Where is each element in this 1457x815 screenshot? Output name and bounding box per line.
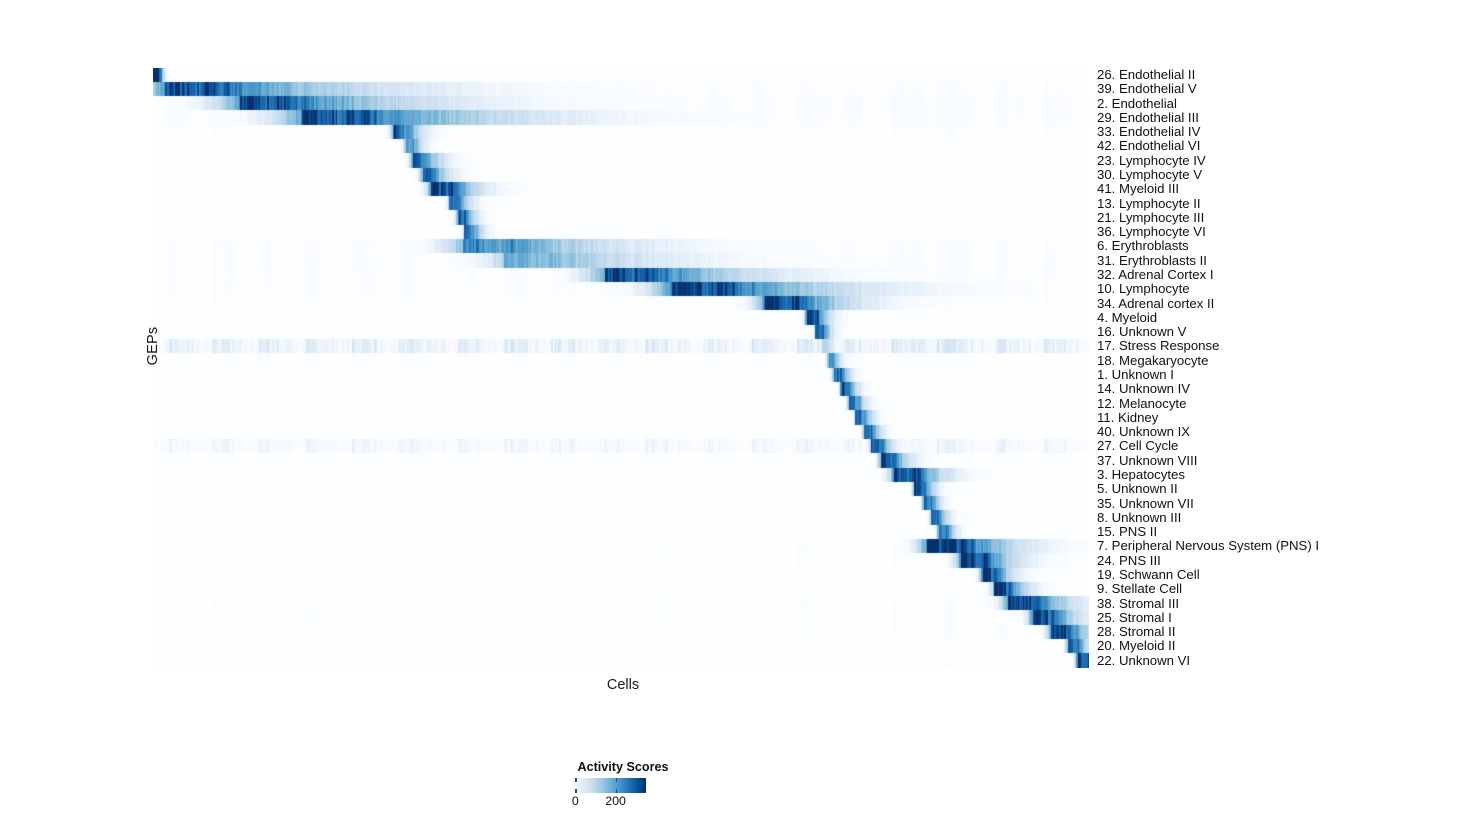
gep-row-label: 28. Stromal II [1097,626,1175,638]
gep-row-label: 41. Myeloid III [1097,183,1179,195]
gep-row-label: 11. Kidney [1097,412,1158,424]
gep-row-label: 24. PNS III [1097,555,1161,567]
colorbar-tick-mark [616,789,618,793]
gep-row-label: 38. Stromal III [1097,598,1179,610]
colorbar-gradient [570,778,646,793]
heatmap-plot-area [153,68,1089,668]
y-axis-label: GEPs [145,306,161,386]
gep-row-label: 1. Unknown I [1097,369,1174,381]
gep-row-label: 37. Unknown VIII [1097,455,1197,467]
gep-row-label: 7. Peripheral Nervous System (PNS) I [1097,540,1319,552]
colorbar-legend: Activity Scores 0200 [500,760,760,812]
gep-row-label: 29. Endothelial III [1097,112,1199,124]
gep-row-label: 17. Stress Response [1097,340,1219,352]
gep-row-label: 31. Erythroblasts II [1097,255,1207,267]
gep-row-label: 8. Unknown III [1097,512,1181,524]
gep-row-label: 5. Unknown II [1097,483,1178,495]
gep-row-label: 15. PNS II [1097,526,1157,538]
gep-row-label: 32. Adrenal Cortex I [1097,269,1214,281]
gep-row-label: 35. Unknown VII [1097,498,1194,510]
x-axis-label: Cells [453,677,793,693]
gep-row-label: 22. Unknown VI [1097,655,1190,667]
gep-row-label: 34. Adrenal cortex II [1097,298,1214,310]
gep-row-label: 27. Cell Cycle [1097,440,1178,452]
gep-row-label: 2. Endothelial [1097,98,1177,110]
gep-row-label: 13. Lymphocyte II [1097,198,1201,210]
colorbar-tick-mark [575,778,577,782]
gep-row-label: 20. Myeloid II [1097,640,1175,652]
gep-row-label: 12. Melanocyte [1097,398,1186,410]
colorbar-tick-mark [616,778,618,782]
gep-row-label: 6. Erythroblasts [1097,240,1189,252]
gep-row-label: 39. Endothelial V [1097,83,1197,95]
gep-row-label: 40. Unknown IX [1097,426,1190,438]
gep-row-label: 4. Myeloid [1097,312,1157,324]
gep-row-label: 42. Endothelial VI [1097,140,1200,152]
gep-row-label: 21. Lymphocyte III [1097,212,1204,224]
gep-row-label: 10. Lymphocyte [1097,283,1190,295]
colorbar-tick-label: 200 [605,794,626,808]
gep-row-labels: 26. Endothelial II39. Endothelial V2. En… [1097,68,1447,668]
colorbar-title: Activity Scores [500,760,746,774]
colorbar-tick-mark [575,789,577,793]
gep-row-label: 26. Endothelial II [1097,69,1195,81]
gep-row-label: 14. Unknown IV [1097,383,1190,395]
gep-row-label: 16. Unknown V [1097,326,1186,338]
gep-row-label: 18. Megakaryocyte [1097,355,1208,367]
heatmap-figure: GEPs Cells 26. Endothelial II39. Endothe… [0,0,1457,815]
heatmap-cells [153,68,1089,668]
gep-row-label: 33. Endothelial IV [1097,126,1200,138]
gep-row-label: 36. Lymphocyte VI [1097,226,1206,238]
gep-row-label: 23. Lymphocyte IV [1097,155,1206,167]
gep-row-label: 30. Lymphocyte V [1097,169,1202,181]
gep-row-label: 9. Stellate Cell [1097,583,1182,595]
colorbar-tick-label: 0 [572,794,579,808]
gep-row-label: 3. Hepatocytes [1097,469,1185,481]
gep-row-label: 19. Schwann Cell [1097,569,1200,581]
gep-row-label: 25. Stromal I [1097,612,1172,624]
